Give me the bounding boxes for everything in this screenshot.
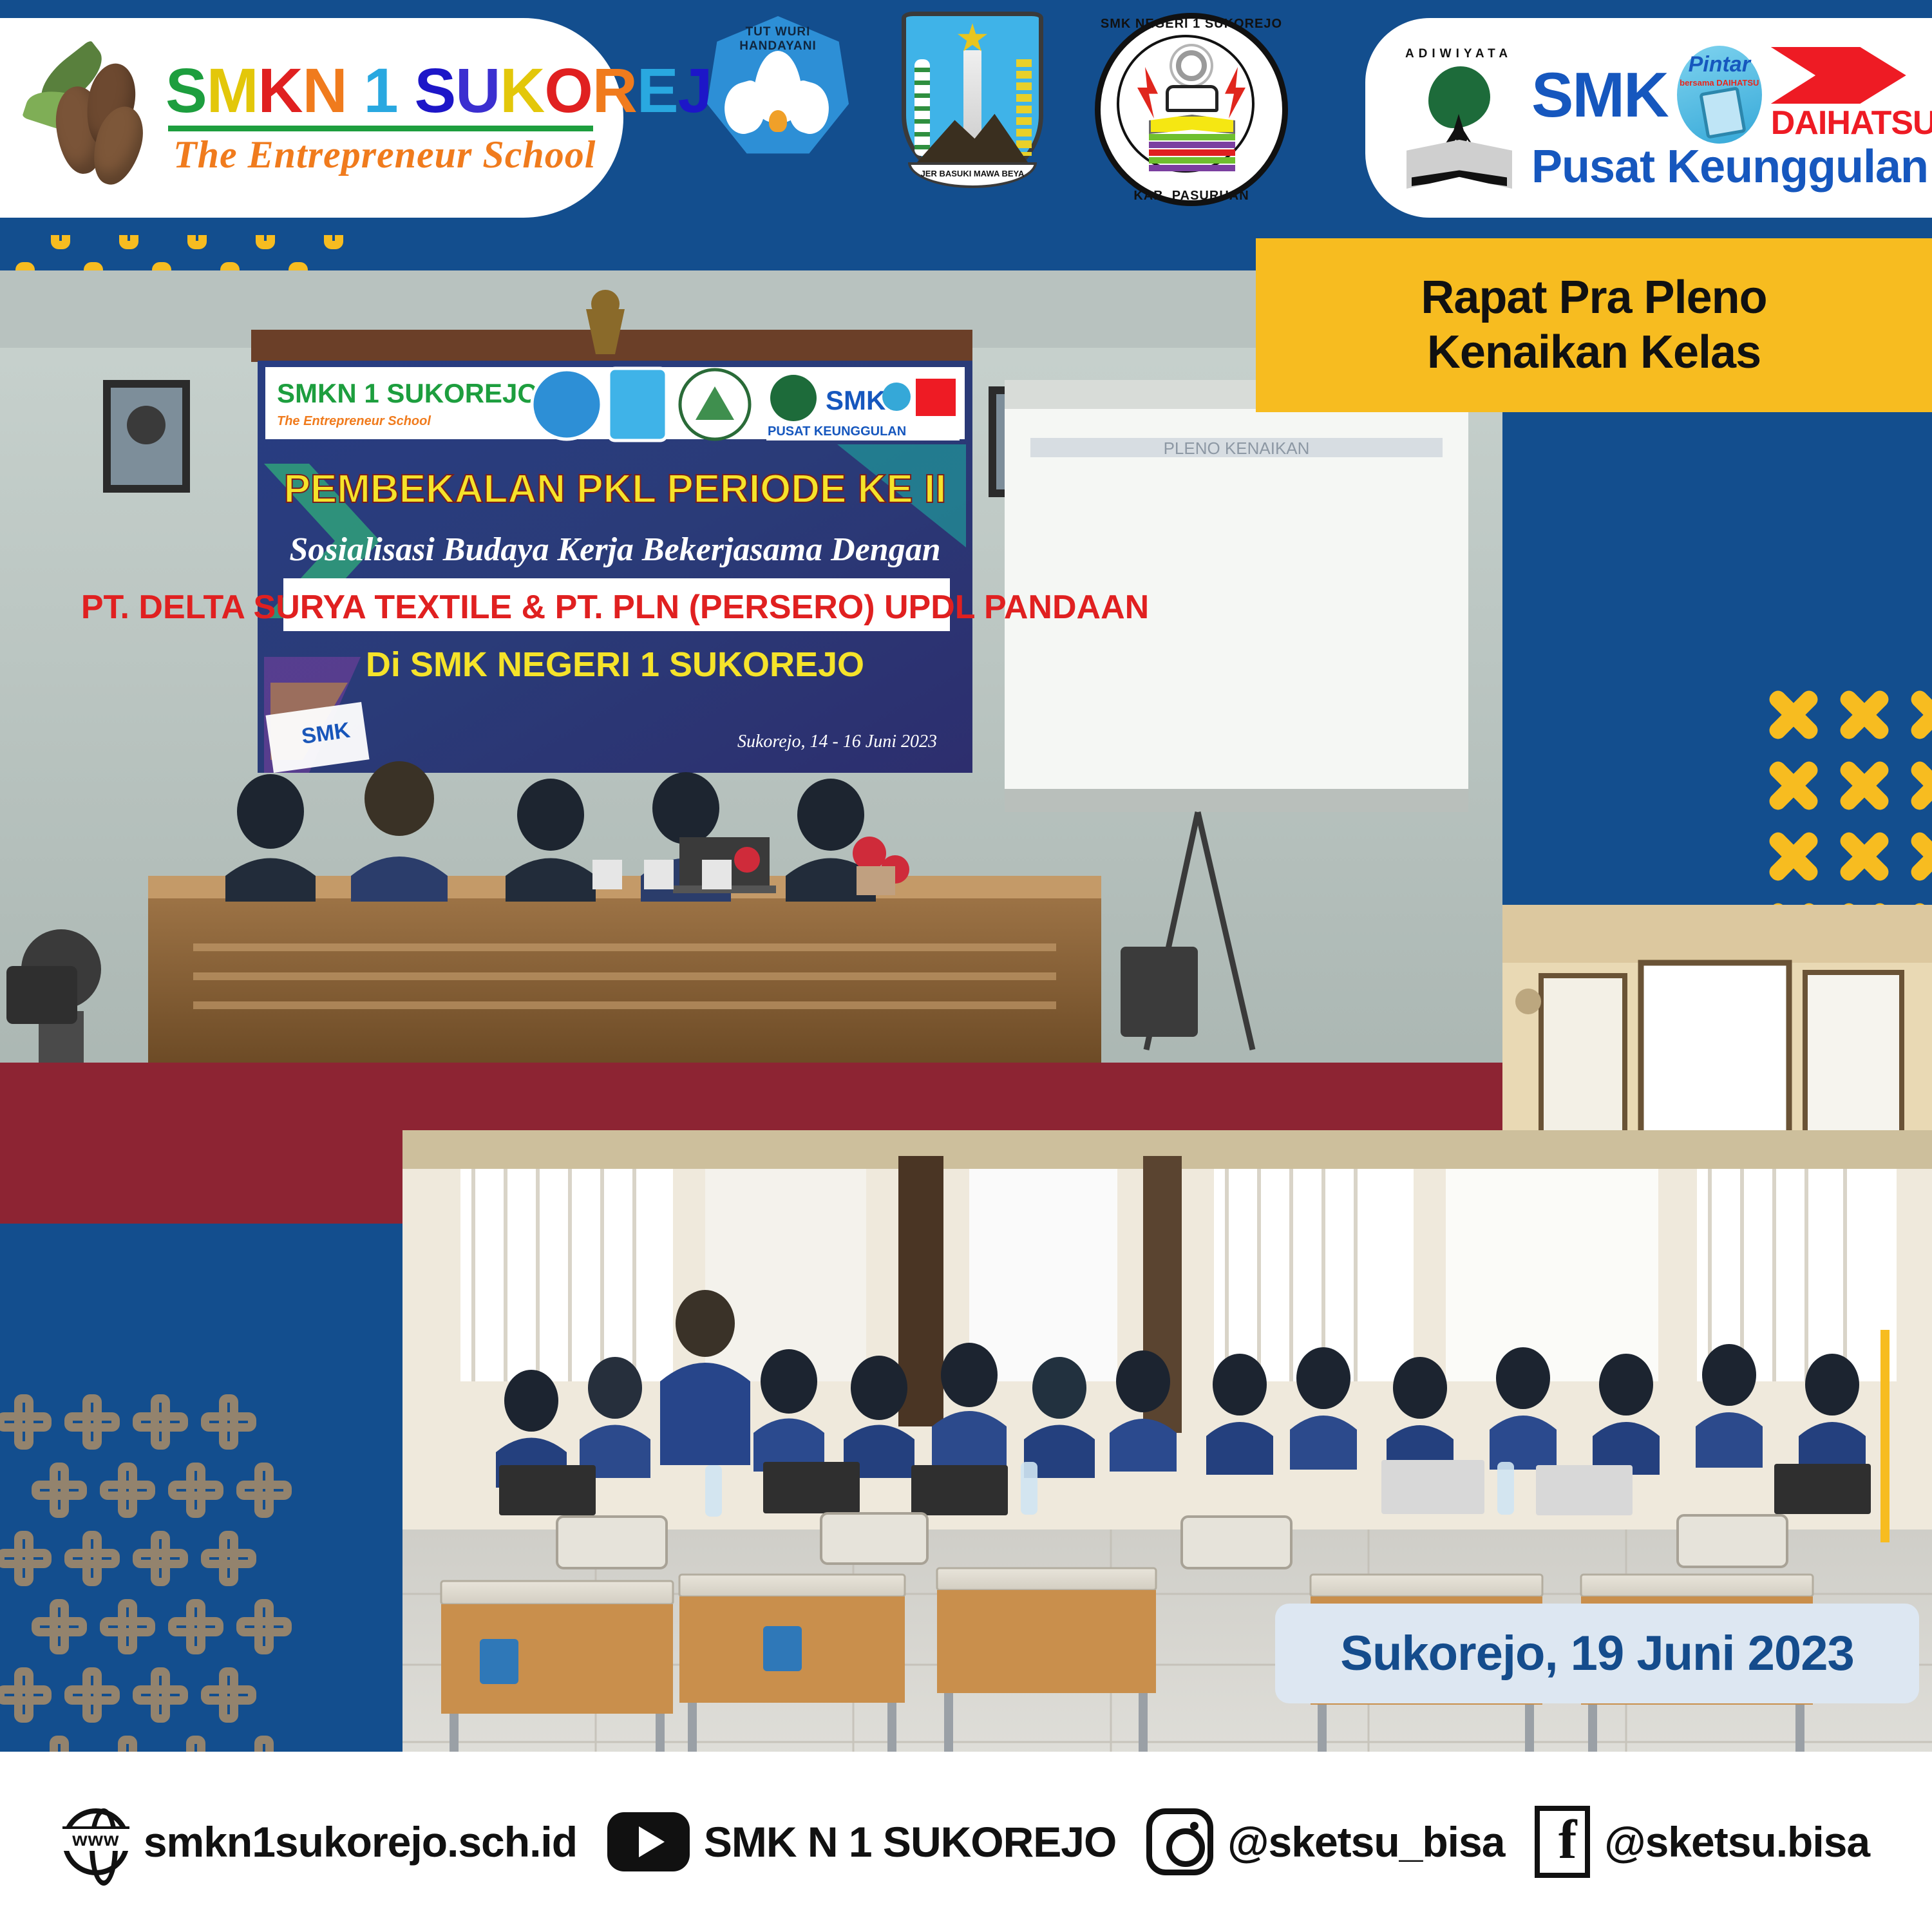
poster-title-line1: Rapat Pra Pleno	[1421, 270, 1766, 325]
globe-icon: www	[62, 1808, 129, 1875]
seal-label-bottom: KAB. PASURUAN	[1095, 189, 1288, 204]
school-name: SMKN 1 SUKOREJO	[166, 59, 760, 122]
footer-item-website[interactable]: www smkn1sukorejo.sch.id	[62, 1808, 577, 1875]
pintar-label: Pintar	[1677, 52, 1762, 77]
cocoa-pods-icon	[19, 49, 151, 187]
daihatsu-logo-icon: DAIHATSU	[1771, 47, 1913, 142]
pintar-daihatsu-icon: Pintar bersama DAIHATSU	[1677, 46, 1762, 144]
school-logo-pill: SMKN 1 SUKOREJO The Entrepreneur School	[0, 18, 623, 218]
svg-text:Sosialisasi Budaya Kerja Beker: Sosialisasi Budaya Kerja Bekerjasama Den…	[289, 531, 940, 568]
footer-item-youtube[interactable]: SMK N 1 SUKOREJO	[607, 1812, 1116, 1871]
tut-wuri-handayani-icon: TUT WURI HANDAYANI	[707, 16, 849, 158]
footer-item-instagram[interactable]: @sketsu_bisa	[1146, 1808, 1504, 1875]
svg-text:SMKN 1 SUKOREJO: SMKN 1 SUKOREJO	[277, 378, 538, 408]
date-label: Sukorejo, 19 Juni 2023	[1340, 1625, 1854, 1681]
facebook-icon: f	[1535, 1806, 1590, 1878]
youtube-icon	[607, 1812, 690, 1871]
date-badge: Sukorejo, 19 Juni 2023	[1275, 1604, 1919, 1703]
svg-text:Di SMK NEGERI 1 SUKOREJO: Di SMK NEGERI 1 SUKOREJO	[366, 645, 864, 684]
jawa-timur-emblem-icon: JER BASUKI MAWA BEYA	[902, 12, 1043, 184]
youtube-label: SMK N 1 SUKOREJO	[704, 1817, 1116, 1866]
poster-header: SMKN 1 SUKOREJO The Entrepreneur School …	[0, 0, 1932, 235]
daihatsu-label: DAIHATSU	[1771, 104, 1913, 142]
adiwiyata-icon: ADIWIYATA	[1397, 47, 1520, 189]
svg-text:PT. DELTA SURYA TEXTILE & PT.: PT. DELTA SURYA TEXTILE & PT. PLN (PERSE…	[81, 589, 1149, 626]
pintar-sub-label: bersama DAIHATSU	[1677, 78, 1762, 88]
pusat-keunggulan-pill: ADIWIYATA SMK Pintar bersama DAIHATSU DA…	[1365, 18, 1932, 218]
svg-text:PEMBEKALAN PKL PERIODE KE II: PEMBEKALAN PKL PERIODE KE II	[284, 467, 947, 511]
poster-footer: www smkn1sukorejo.sch.id SMK N 1 SUKOREJ…	[0, 1752, 1932, 1932]
poster-body: PLENO KENAIKAN SMKN 1 SUKOREJO The Entre…	[0, 235, 1932, 1752]
svg-text:PLENO KENAIKAN: PLENO KENAIKAN	[1164, 439, 1310, 458]
svg-text:The Entrepreneur School: The Entrepreneur School	[277, 414, 431, 428]
logo-divider	[168, 126, 593, 131]
yellow-accent-bar	[1880, 1330, 1889, 1542]
instagram-label: @sketsu_bisa	[1227, 1817, 1504, 1866]
footer-item-facebook[interactable]: f @sketsu.bisa	[1535, 1806, 1870, 1878]
seal-label-top: SMK NEGERI 1 SUKOREJO	[1095, 17, 1288, 32]
poster-title-box: Rapat Pra Pleno Kenaikan Kelas	[1256, 238, 1932, 412]
website-label: smkn1sukorejo.sch.id	[144, 1817, 577, 1866]
smk-wordmark: SMK	[1531, 66, 1668, 123]
tut-wuri-label: TUT WURI HANDAYANI	[707, 25, 849, 53]
facebook-label: @sketsu.bisa	[1604, 1817, 1870, 1866]
plus-pattern-bottom-left	[0, 1388, 298, 1752]
svg-text:PUSAT KEUNGGULAN: PUSAT KEUNGGULAN	[768, 424, 906, 439]
instagram-icon	[1146, 1808, 1213, 1875]
globe-www-label: www	[62, 1829, 129, 1851]
pusat-keunggulan-label: Pusat Keunggulan	[1531, 144, 1928, 190]
school-tagline: The Entrepreneur School	[173, 133, 760, 177]
adiwiyata-label: ADIWIYATA	[1397, 47, 1520, 61]
jatim-motto-label: JER BASUKI MAWA BEYA	[908, 162, 1037, 188]
photo-main-meeting-hall: PLENO KENAIKAN SMKN 1 SUKOREJO The Entre…	[0, 270, 1502, 1224]
poster-title-line2: Kenaikan Kelas	[1427, 325, 1761, 380]
svg-text:SMK: SMK	[826, 385, 885, 415]
svg-text:Sukorejo, 14 - 16 Juni 2023: Sukorejo, 14 - 16 Juni 2023	[737, 732, 937, 752]
smkn1-sukorejo-seal-icon: SMK NEGERI 1 SUKOREJO KAB. PASURUAN	[1095, 13, 1288, 206]
